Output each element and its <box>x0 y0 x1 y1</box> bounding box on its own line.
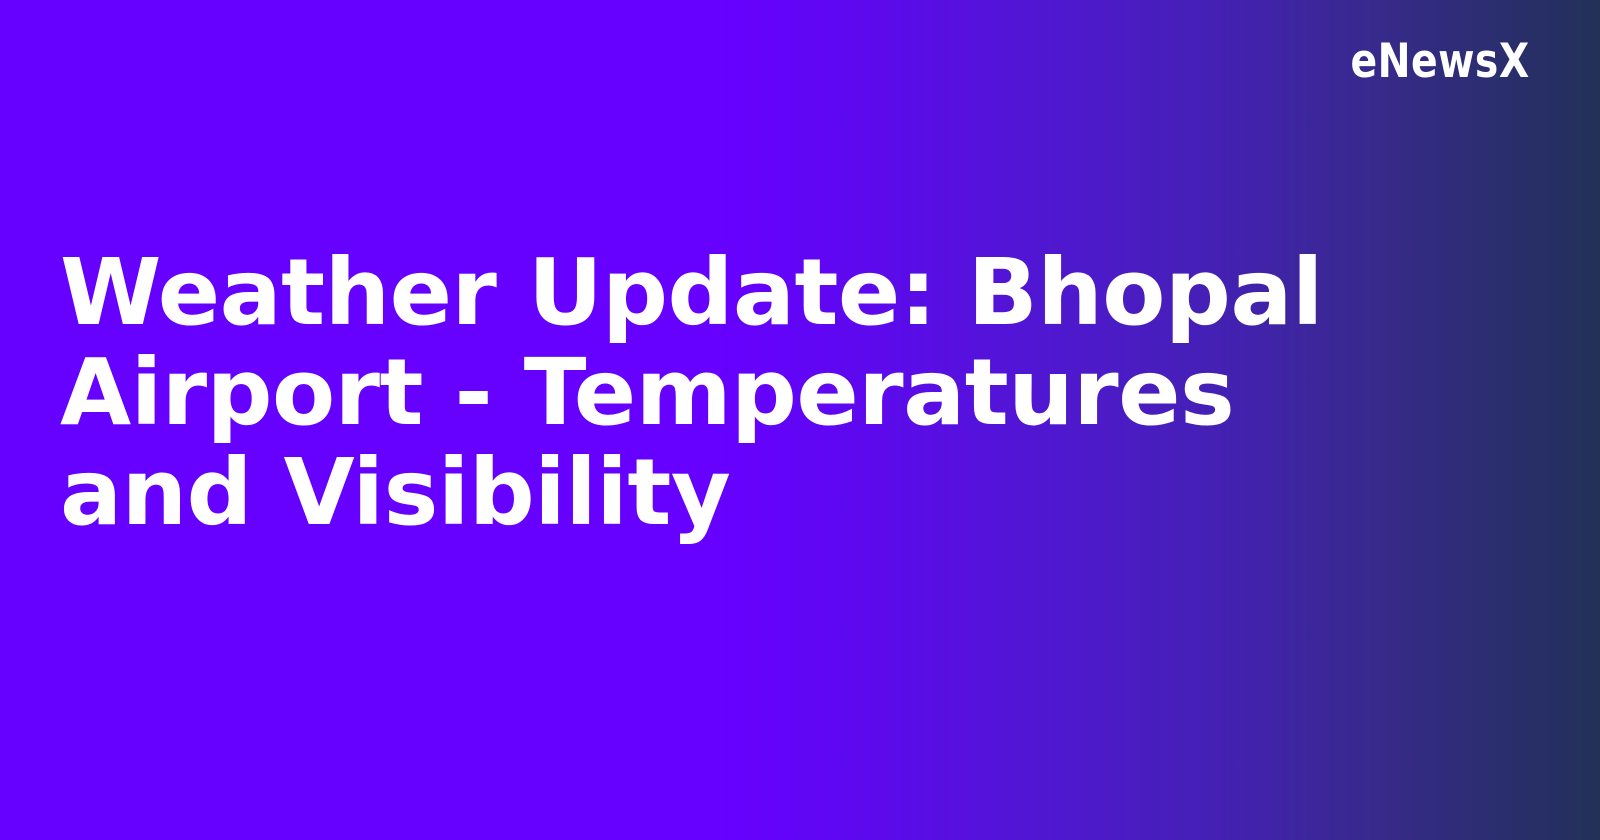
headline-container: Weather Update: Bhopal Airport - Tempera… <box>60 243 1350 543</box>
brand-logo[interactable]: eNewsX <box>1351 36 1530 88</box>
news-banner: eNewsX Weather Update: Bhopal Airport - … <box>0 0 1600 840</box>
page-title: Weather Update: Bhopal Airport - Tempera… <box>60 243 1350 543</box>
